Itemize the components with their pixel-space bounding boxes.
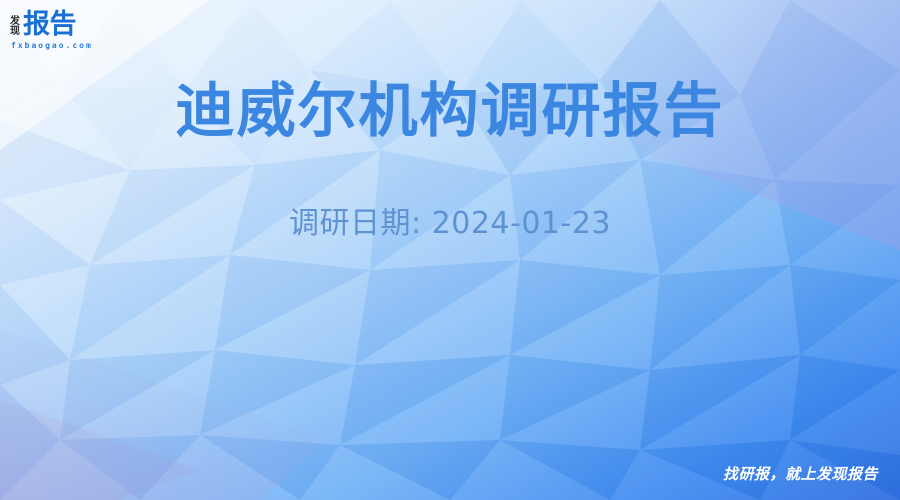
logo-char-xian: 现 bbox=[10, 27, 20, 37]
logo-stacked-characters: 发 现 bbox=[10, 17, 20, 38]
title-block: 迪威尔机构调研报告 调研日期: 2024-01-23 bbox=[0, 78, 900, 242]
page-title: 迪威尔机构调研报告 bbox=[0, 78, 900, 144]
report-cover-slide: 发 现 报告 fxbaogao.com 迪威尔机构调研报告 调研日期: 2024… bbox=[0, 0, 900, 500]
footer-slogan: 找研报，就上发现报告 bbox=[723, 463, 878, 484]
low-poly-background bbox=[0, 0, 900, 500]
logo-wordmark-row: 发 现 报告 bbox=[10, 8, 130, 38]
logo-wordmark: 报告 bbox=[23, 12, 76, 38]
brand-logo[interactable]: 发 现 报告 fxbaogao.com bbox=[10, 8, 130, 50]
research-date-subtitle: 调研日期: 2024-01-23 bbox=[0, 198, 900, 242]
logo-domain-text: fxbaogao.com bbox=[11, 41, 130, 50]
